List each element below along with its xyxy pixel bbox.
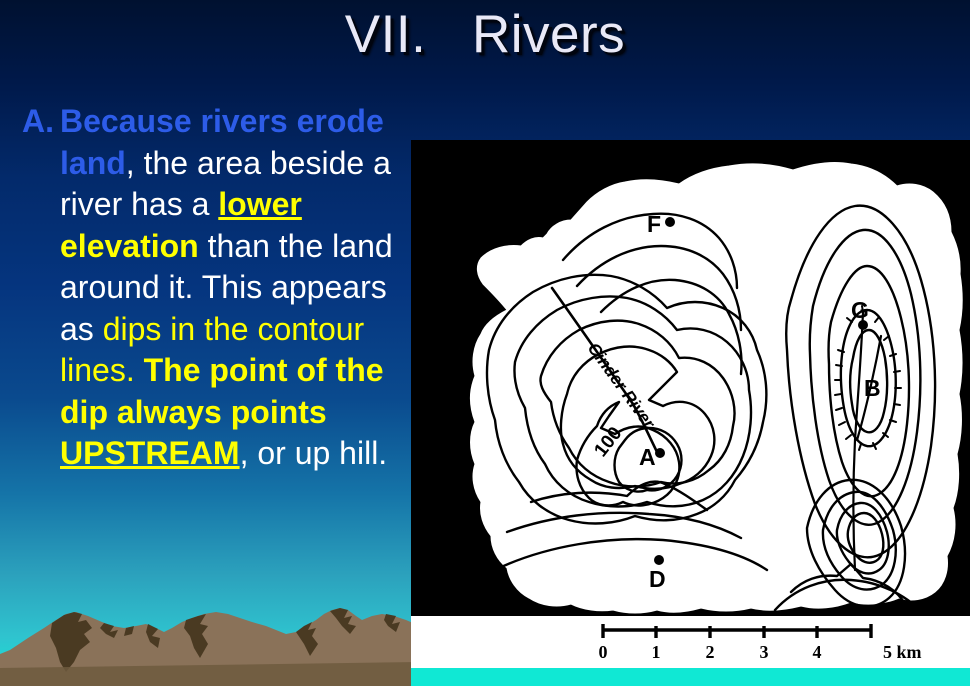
point-label-b: B [864,375,881,401]
scale-tick-0: 0 [599,642,608,662]
scale-bar: 0 1 2 3 4 5 km [411,616,970,668]
scale-bar-ticks [603,624,871,638]
mountain-silhouette [0,576,420,686]
scale-tick-1: 1 [652,642,661,662]
bullet-marker: A. [22,101,60,143]
text-run-point-of-the: The point of the [144,352,384,388]
scale-tick-5-km: 5 km [883,642,922,662]
point-label-a: A [639,444,656,470]
slide-root: VII. Rivers A.Because rivers erode land,… [0,0,970,686]
scale-tick-4: 4 [813,642,822,662]
point-marker-d [654,555,664,565]
scale-bar-labels: 0 1 2 3 4 5 km [599,642,922,662]
text-run-or-up: , or up [240,435,331,471]
page-title: VII. Rivers [345,4,625,66]
text-run-than-the: than the [199,228,324,264]
text-run-comma-the: , the [126,145,188,181]
text-run-elevation: elevation [60,228,199,264]
text-run-dip-always-points: dip always points [60,394,327,430]
scale-tick-3: 3 [760,642,769,662]
map-image-panel[interactable]: Cinder River 100 [411,140,970,686]
text-run-lower: lower [218,186,302,222]
bullet-paragraph-a: A.Because rivers erode land, the area be… [22,101,402,475]
text-run-because-rivers: Because rivers [60,103,288,139]
body-text-block: A.Because rivers erode land, the area be… [22,101,402,475]
scale-tick-2: 2 [706,642,715,662]
text-run-dips-in: dips in [103,311,196,347]
text-run-has-a: has a [131,186,218,222]
map-scale-strip: 0 1 2 3 4 5 km [411,616,970,668]
point-label-g: G [851,297,869,323]
topographic-contour-map: Cinder River 100 [411,140,970,686]
text-run-hill: hill. [339,435,387,471]
point-label-d: D [649,566,666,592]
bottom-cyan-strip [411,668,970,686]
text-run-upstream: UPSTREAM [60,435,240,471]
point-marker-f [665,217,675,227]
point-marker-a [655,448,665,458]
title-bar: VII. Rivers [0,4,970,66]
